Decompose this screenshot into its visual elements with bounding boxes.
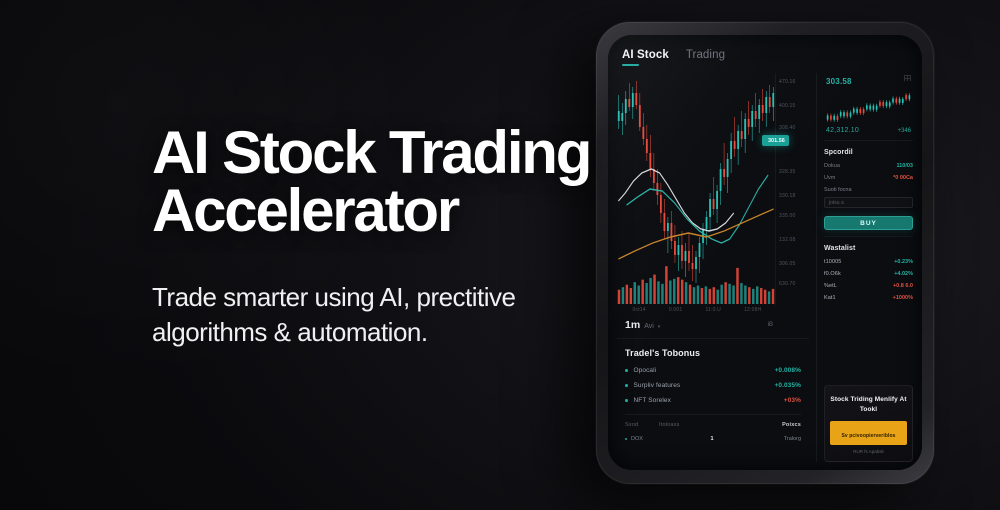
list-item[interactable]: Opocali +0.008% bbox=[625, 367, 801, 374]
field-value: *0 00Ca bbox=[893, 175, 913, 181]
timeframe-bar: 1m Avi ▾ iB bbox=[617, 313, 809, 339]
page-title: AI Stock Trading Accelerator bbox=[152, 124, 622, 240]
tablet-screen: AI Stock Trading bbox=[608, 35, 922, 470]
field-value: 110/03 bbox=[896, 163, 913, 169]
chevron-down-icon[interactable]: ▾ bbox=[658, 324, 661, 330]
y-tick: 330.18 bbox=[779, 193, 796, 199]
table-row[interactable]: DOX 1 Tralorg bbox=[625, 436, 801, 442]
hero-banner: AI Stock Trading Accelerator Trade smart… bbox=[0, 0, 1000, 510]
promo-card[interactable]: Stock Triding Menlify At Tookl Sv pcivoo… bbox=[824, 385, 913, 462]
bullet-icon bbox=[625, 369, 628, 372]
y-tick: 470.16 bbox=[779, 79, 796, 85]
watchlist-change: +4.02% bbox=[894, 271, 913, 277]
insight-label: NFT Sorelex bbox=[634, 397, 784, 404]
y-tick: 132.08 bbox=[779, 237, 796, 243]
watchlist-row[interactable]: Kat1 +1000% bbox=[824, 295, 913, 301]
grid-icon bbox=[904, 75, 911, 81]
promo-subtext: RUR fs Apabsk bbox=[830, 449, 907, 454]
order-title: Spcordil bbox=[824, 149, 913, 156]
watchlist-symbol: f0.O6k bbox=[824, 271, 841, 277]
app-navbar: AI Stock Trading bbox=[608, 41, 922, 73]
insights-title: Tradel's Tobonus bbox=[625, 348, 801, 358]
bullet-icon bbox=[625, 399, 628, 402]
insight-label: Surpliv features bbox=[634, 382, 775, 389]
hero-copy: AI Stock Trading Accelerator Trade smart… bbox=[152, 124, 622, 350]
field-label: Uvm bbox=[824, 175, 835, 181]
ticker-price: 303.58 bbox=[826, 77, 911, 86]
positions-table: Sxod Itoloass Poixcs DOX 1 Tralorg bbox=[625, 414, 801, 442]
promo-button[interactable]: Sv pcivoopierveriblos bbox=[830, 421, 907, 445]
ticker-change: +346 bbox=[897, 128, 911, 134]
insight-value: +03% bbox=[784, 397, 801, 404]
timeframe-value: 1m bbox=[625, 319, 640, 331]
order-field-row: Dokua 110/03 bbox=[824, 163, 913, 169]
watchlist-row[interactable]: %etL +0.8 6.0 bbox=[824, 283, 913, 289]
promo-button-label: Sv pcivoopierveriblos bbox=[841, 433, 895, 439]
row-symbol-label: DOX bbox=[631, 436, 643, 442]
price-chart[interactable]: 470.16 400.15 308.40 301.56 328.35 330.1… bbox=[617, 73, 809, 305]
watchlist-title: Wastalist bbox=[824, 245, 913, 252]
y-tick: 308.40 bbox=[779, 125, 796, 131]
amount-label: Suoti focna bbox=[824, 187, 913, 193]
timeframe-unit: Avi bbox=[644, 323, 654, 330]
table-header: Sxod Itoloass Poixcs bbox=[625, 422, 801, 428]
ticker-card[interactable]: 303.58 42,312.10 +346 bbox=[824, 73, 913, 134]
column-header: Poixcs bbox=[765, 422, 801, 428]
watchlist-card: Wastalist t10005 +0.23% f0.O6k +4.02% %e… bbox=[824, 236, 913, 307]
y-tick: 306.05 bbox=[779, 261, 796, 267]
tab-trading-label: Trading bbox=[686, 49, 725, 61]
promo-title: Stock Triding Menlify At Tookl bbox=[830, 395, 907, 414]
buy-button[interactable]: BUY bbox=[824, 216, 913, 230]
ticker-value: 42,312.10 bbox=[826, 127, 859, 134]
row-amount: 1 bbox=[659, 436, 765, 442]
right-sidebar: 303.58 42,312.10 +346 Spcordil D bbox=[816, 73, 913, 462]
chart-right-label: iB bbox=[768, 322, 773, 328]
candlestick-svg bbox=[617, 73, 775, 305]
ticker-stats: 42,312.10 +346 bbox=[826, 127, 911, 134]
tab-ai-stock[interactable]: AI Stock bbox=[622, 49, 669, 65]
main-content: 470.16 400.15 308.40 301.56 328.35 330.1… bbox=[617, 73, 809, 462]
y-tick: 400.15 bbox=[779, 103, 796, 109]
hero-subtitle: Trade smarter using AI, prectitive algor… bbox=[152, 280, 622, 349]
y-tick: 328.35 bbox=[779, 169, 796, 175]
candlestick-plot[interactable] bbox=[617, 73, 775, 305]
watchlist-change: +0.8 6.0 bbox=[893, 283, 913, 289]
row-status: Tralorg bbox=[765, 436, 801, 442]
list-item[interactable]: NFT Sorelex +03% bbox=[625, 397, 801, 404]
watchlist-symbol: Kat1 bbox=[824, 295, 836, 301]
field-label: Dokua bbox=[824, 163, 840, 169]
price-axis: 470.16 400.15 308.40 301.56 328.35 330.1… bbox=[775, 73, 809, 305]
column-header: Sxod bbox=[625, 422, 659, 428]
list-item[interactable]: Surpliv features +0.035% bbox=[625, 382, 801, 389]
row-symbol: DOX bbox=[625, 436, 659, 442]
watchlist-symbol: t10005 bbox=[824, 259, 841, 265]
tab-ai-stock-label: AI Stock bbox=[622, 49, 669, 61]
amount-placeholder: jotsu a bbox=[829, 200, 844, 206]
time-axis: 0ct14 0.001 11:0.U 12:08H bbox=[617, 305, 809, 313]
timeframe-selector[interactable]: 1m Avi ▾ bbox=[625, 319, 660, 331]
current-price-badge: 301.56 bbox=[762, 135, 789, 146]
insight-value: +0.035% bbox=[774, 382, 801, 389]
watchlist-symbol: %etL bbox=[824, 283, 837, 289]
tab-trading[interactable]: Trading bbox=[686, 49, 725, 65]
insights-panel: Tradel's Tobonus Opocali +0.008% Surpliv… bbox=[617, 339, 809, 462]
insight-value: +0.008% bbox=[774, 367, 801, 374]
buy-button-label: BUY bbox=[860, 220, 877, 227]
watchlist-row[interactable]: t10005 +0.23% bbox=[824, 259, 913, 265]
y-tick: 335.00 bbox=[779, 213, 796, 219]
amount-input[interactable]: jotsu a bbox=[824, 197, 913, 208]
y-tick: 630.70 bbox=[779, 281, 796, 287]
order-field-row: Uvm *0 00Ca bbox=[824, 175, 913, 181]
watchlist-row[interactable]: f0.O6k +4.02% bbox=[824, 271, 913, 277]
bullet-icon bbox=[625, 438, 627, 440]
column-header: Itoloass bbox=[659, 422, 765, 428]
insight-label: Opocali bbox=[634, 367, 775, 374]
mini-candlestick-svg bbox=[826, 89, 911, 125]
bullet-icon bbox=[625, 384, 628, 387]
watchlist-change: +1000% bbox=[893, 295, 913, 301]
title-line-2: Accelerator bbox=[152, 182, 622, 240]
title-line-1: AI Stock Trading bbox=[152, 119, 590, 186]
order-card: Spcordil Dokua 110/03 Uvm *0 00Ca Suoti … bbox=[824, 140, 913, 230]
watchlist-change: +0.23% bbox=[894, 259, 913, 265]
tablet-device: AI Stock Trading bbox=[596, 22, 934, 484]
